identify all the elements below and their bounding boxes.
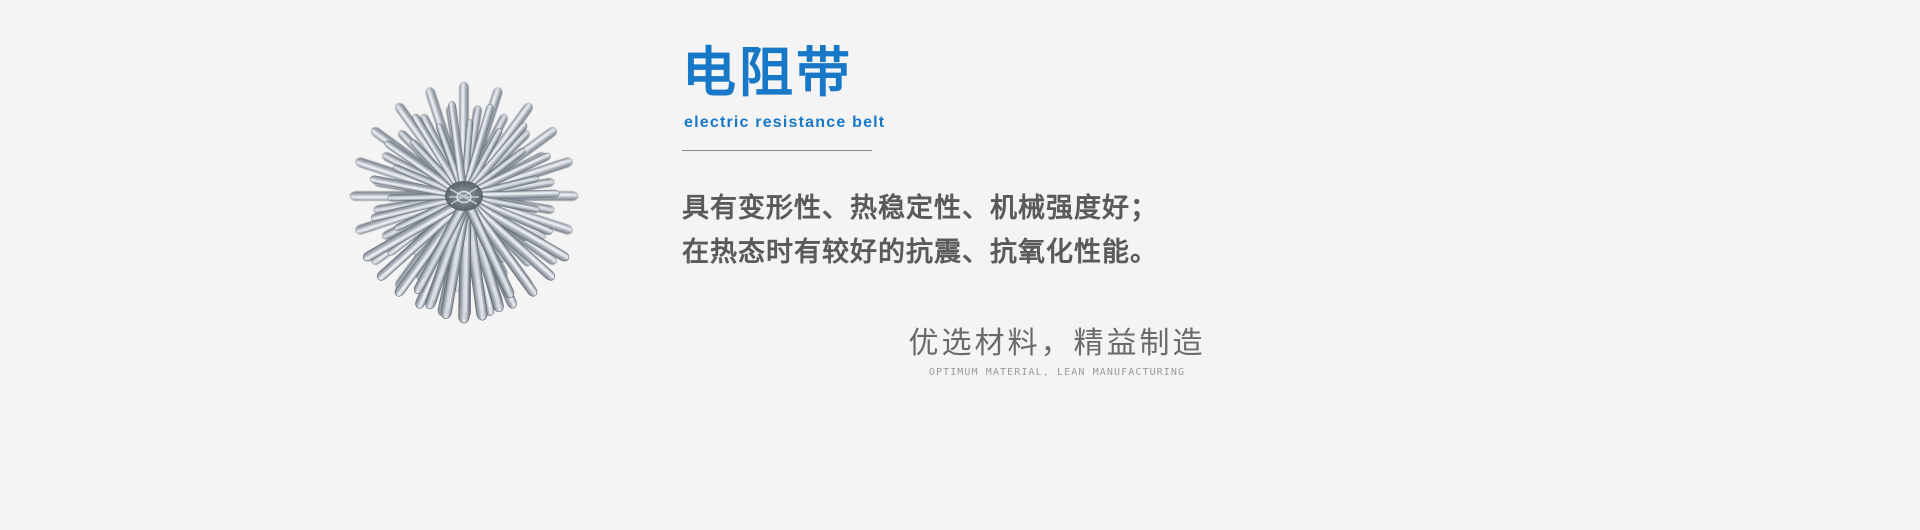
- page-subtitle: electric resistance belt: [684, 114, 1682, 132]
- description-line-2: 在热态时有较好的抗震、抗氧化性能。: [682, 231, 1682, 275]
- title-divider: [682, 150, 872, 151]
- product-image: [296, 48, 646, 378]
- tagline-block: 优选材料，精益制造 OPTIMUM MATERIAL, LEAN MANUFAC…: [777, 324, 1337, 380]
- banner-content: 电阻带 electric resistance belt 具有变形性、热稳定性、…: [682, 42, 1682, 492]
- description-block: 具有变形性、热稳定性、机械强度好； 在热态时有较好的抗震、抗氧化性能。: [682, 187, 1682, 275]
- tagline-chinese: 优选材料，精益制造: [777, 324, 1337, 364]
- product-banner: 电阻带 electric resistance belt 具有变形性、热稳定性、…: [0, 0, 1920, 530]
- page-title: 电阻带: [682, 42, 1682, 104]
- tagline-english: OPTIMUM MATERIAL, LEAN MANUFACTURING: [777, 366, 1337, 380]
- description-line-1: 具有变形性、热稳定性、机械强度好；: [682, 187, 1682, 231]
- product-core: [445, 181, 483, 211]
